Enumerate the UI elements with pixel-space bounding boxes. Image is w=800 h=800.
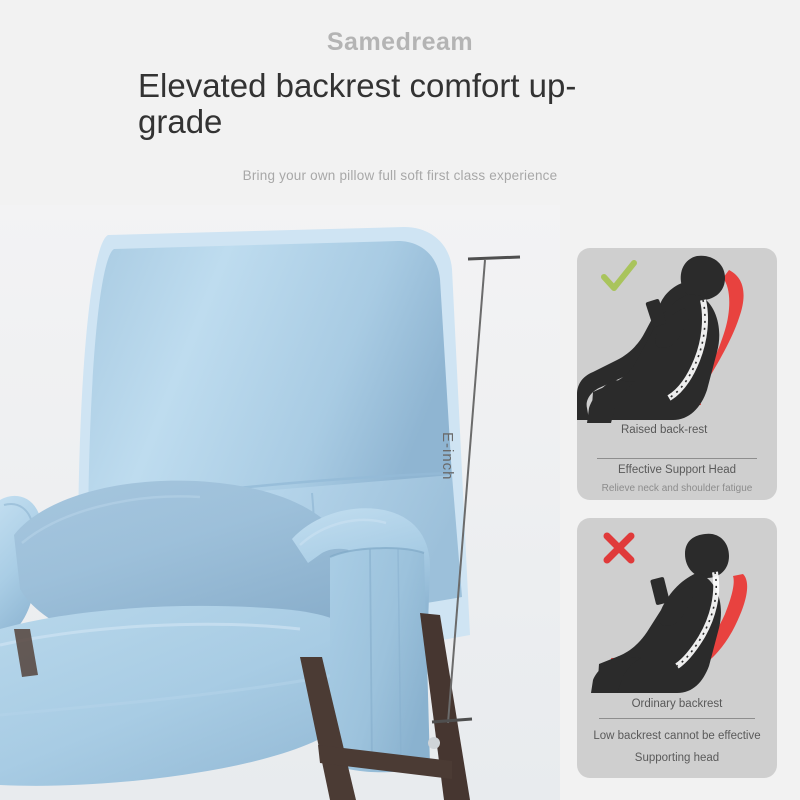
- dimension-line: [420, 245, 535, 740]
- dimension-shaft: [448, 260, 485, 723]
- seated-person-low-backrest-figure: [577, 518, 777, 693]
- bad-card-main-text: Low backrest cannot be effective: [577, 730, 777, 742]
- dimension-cap-top: [468, 257, 520, 259]
- seated-person-high-backrest-figure: [577, 248, 777, 423]
- dimension-cap-bottom: [432, 719, 472, 722]
- page-title: Elevated backrest comfort up-grade: [138, 68, 608, 140]
- good-card-divider: [597, 458, 757, 459]
- comparison-card-bad: Ordinary backrest Low backrest cannot be…: [577, 518, 777, 778]
- bad-card-divider: [599, 718, 755, 719]
- bad-card-sub-text: Supporting head: [577, 752, 777, 764]
- comparison-card-good: Raised back-rest Effective Support Head …: [577, 248, 777, 500]
- good-card-title: Raised back-rest: [577, 424, 800, 437]
- person-head: [681, 256, 725, 301]
- phone-bad: [650, 577, 670, 606]
- bad-card-title: Ordinary backrest: [577, 698, 777, 711]
- brand-name: Samedream: [0, 28, 800, 57]
- page-subtitle: Bring your own pillow full soft first cl…: [0, 168, 800, 183]
- side-storage-pocket: [330, 548, 430, 772]
- product-marketing-image: Samedream Elevated backrest comfort up-g…: [0, 0, 800, 800]
- good-card-sub-text: Relieve neck and shoulder fatigue: [577, 482, 777, 496]
- good-card-main-text: Effective Support Head: [577, 464, 777, 476]
- person-head-bad: [685, 534, 729, 578]
- dimension-label: E-inch: [439, 432, 456, 481]
